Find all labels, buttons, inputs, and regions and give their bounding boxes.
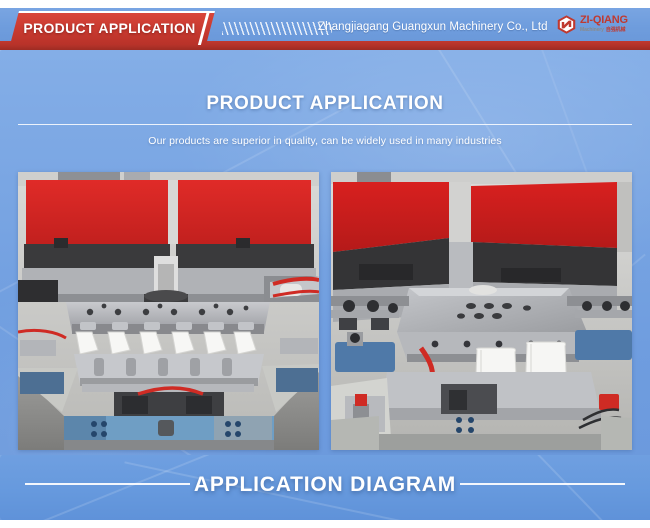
logo-sub-cn: 自强机械 <box>606 28 626 33</box>
banner-title: APPLICATION DIAGRAM <box>0 473 650 497</box>
product-photo-1[interactable] <box>18 172 319 450</box>
logo-brand: ZI-QIANG <box>580 15 628 26</box>
bottom-white-strip <box>0 520 650 528</box>
logo-text: ZI-QIANG Machinery 自强机械 <box>580 15 628 33</box>
page-subtitle: Our products are superior in quality, ca… <box>0 135 650 147</box>
hexagon-zq-logo-icon <box>556 14 577 35</box>
product-application-tab[interactable]: PRODUCT APPLICATION <box>10 11 215 45</box>
product-photo-2[interactable] <box>331 172 632 450</box>
top-white-strip <box>0 0 650 8</box>
logo-sub-en: Machinery <box>580 28 604 33</box>
application-diagram-banner: APPLICATION DIAGRAM <box>0 455 650 520</box>
tab-label: PRODUCT APPLICATION <box>10 11 215 45</box>
title-divider <box>18 124 632 125</box>
photo-gallery <box>0 172 650 452</box>
company-name: Zhangjiagang Guangxun Machinery Co., Ltd <box>318 21 548 33</box>
diagonal-stripes-icon <box>222 22 332 35</box>
page-title: PRODUCT APPLICATION <box>0 93 650 115</box>
product-application-page: Zhangjiagang Guangxun Machinery Co., Ltd… <box>0 0 650 528</box>
logo-subline: Machinery 自强机械 <box>580 28 628 33</box>
company-logo[interactable]: ZI-QIANG Machinery 自强机械 <box>556 10 644 38</box>
page-body: PRODUCT APPLICATION Our products are sup… <box>0 50 650 528</box>
